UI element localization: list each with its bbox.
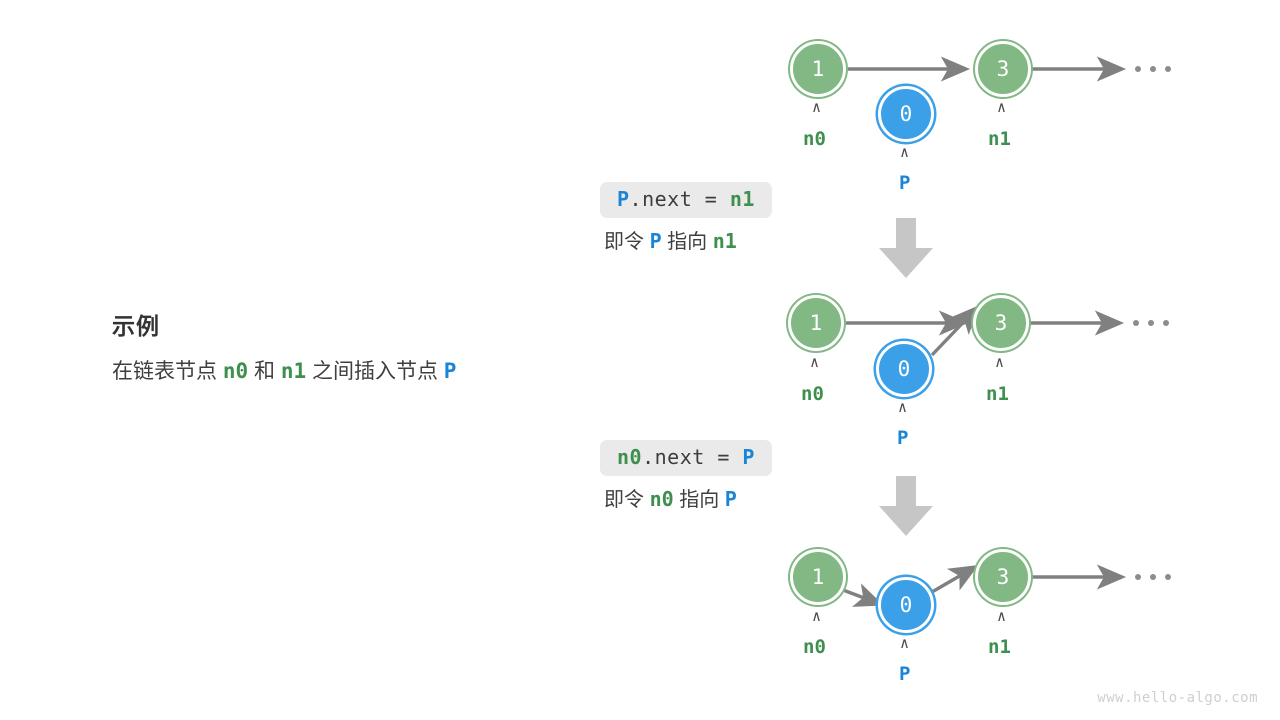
caret-n1-icon: ∧ [997,609,1006,624]
step-1-code-n1: n1 [730,187,755,211]
node-label-n0: n0 [803,638,826,657]
caret-n0-icon: ∧ [812,609,821,624]
step-1-code-op: .next = [630,187,730,211]
step-2-note-n0: n0 [650,487,674,511]
list-ellipsis-icon [1135,574,1171,580]
step-1-note: 即令 P 指向 n1 [600,230,772,254]
node-n0: 1 [788,295,844,351]
example-panel: 示例 在链表节点 n0 和 n1 之间插入节点 P [112,314,582,384]
watermark: www.hello-algo.com [1097,690,1258,706]
example-description: 在链表节点 n0 和 n1 之间插入节点 P [112,359,582,384]
caret-p-icon: ∧ [900,145,909,160]
desc-part-p: P [444,359,457,383]
node-label-p: P [897,429,908,448]
node-label-n0: n0 [801,385,824,404]
desc-part-4: 之间插入节点 [306,360,444,383]
node-p: 0 [876,341,932,397]
step-2-code-p: P [742,445,755,469]
desc-part-n1: n1 [281,359,306,383]
step-1-note-0: 即令 [604,231,650,253]
caret-n1-icon: ∧ [997,100,1006,115]
step-1-note-p: P [650,229,662,253]
caret-n0-icon: ∧ [810,355,819,370]
example-title: 示例 [112,314,582,339]
step-2-note-2: 指向 [674,489,725,511]
desc-part-2: 和 [248,360,281,383]
step-2-note-p: P [725,487,737,511]
down-arrow-icon-1 [877,218,935,280]
list-ellipsis-icon [1133,320,1169,326]
node-n1: 3 [975,41,1031,97]
node-label-p: P [899,174,910,193]
step-1-code-p: P [617,187,630,211]
step-2-note: 即令 n0 指向 P [600,488,772,512]
list-ellipsis-icon [1135,66,1171,72]
caret-n1-icon: ∧ [995,355,1004,370]
node-n1: 3 [973,295,1029,351]
down-arrow-icon-2 [877,476,935,538]
desc-part-0: 在链表节点 [112,360,223,383]
caret-n0-icon: ∧ [812,100,821,115]
desc-part-n0: n0 [223,359,248,383]
diagram-canvas: 示例 在链表节点 n0 和 n1 之间插入节点 P 1 ∧ n0 0 ∧ P 3… [0,0,1280,720]
node-label-n0: n0 [803,130,826,149]
step-1-note-n1: n1 [713,229,737,253]
node-n0: 1 [790,549,846,605]
node-label-n1: n1 [986,385,1009,404]
step-1-note-2: 指向 [662,231,713,253]
step-2: n0.next = P 即令 n0 指向 P [600,440,772,512]
step-1: P.next = n1 即令 P 指向 n1 [600,182,772,254]
step-1-code: P.next = n1 [600,182,772,218]
step-2-code-op: .next = [642,445,742,469]
step-2-note-0: 即令 [604,489,650,511]
node-label-n1: n1 [988,638,1011,657]
step-2-code: n0.next = P [600,440,772,476]
caret-p-icon: ∧ [898,400,907,415]
node-p: 0 [878,577,934,633]
node-n1: 3 [975,549,1031,605]
node-label-p: P [899,665,910,684]
node-n0: 1 [790,41,846,97]
node-p: 0 [878,86,934,142]
caret-p-icon: ∧ [900,636,909,651]
node-label-n1: n1 [988,130,1011,149]
step-2-code-n0: n0 [617,445,642,469]
